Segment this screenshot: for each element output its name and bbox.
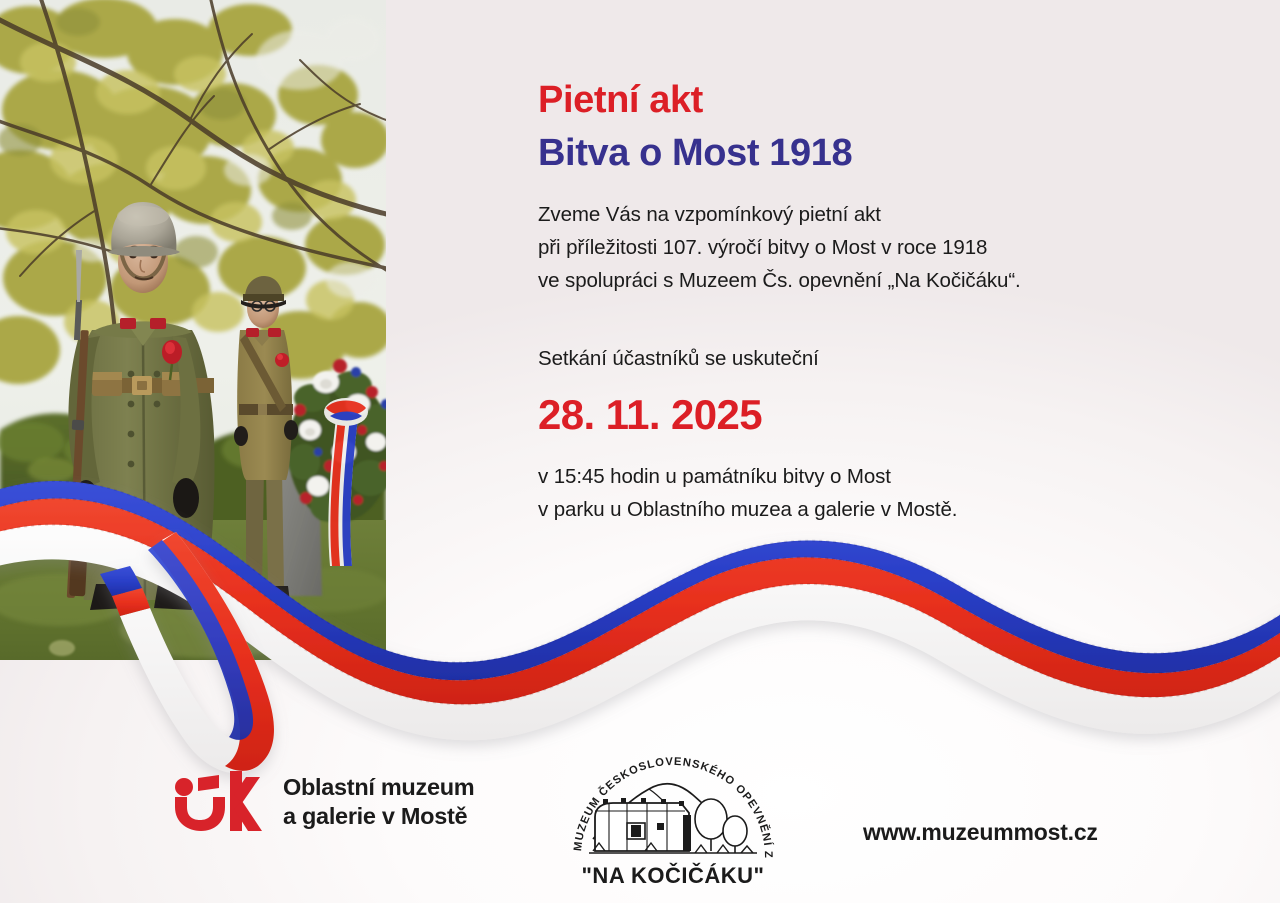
- omgm-logo[interactable]: Oblastní muzeum a galerie v Mostě: [172, 771, 474, 833]
- website-url[interactable]: www.muzeummost.cz: [863, 819, 1098, 846]
- page-title: Bitva o Most 1918: [538, 131, 1198, 176]
- omgm-logo-line-1: Oblastní muzeum: [283, 773, 474, 802]
- meeting-label: Setkání účastníků se uskuteční: [538, 343, 1198, 376]
- omgm-smiley-icon: [172, 771, 264, 833]
- ceremony-photo: [0, 0, 386, 660]
- poster-text-column: Pietní akt Bitva o Most 1918 Zveme Vás n…: [538, 78, 1198, 527]
- location-paragraph: v 15:45 hodin u památníku bitvy o Most v…: [538, 460, 1198, 526]
- poster-root: Pietní akt Bitva o Most 1918 Zveme Vás n…: [0, 0, 1280, 903]
- event-date: 28. 11. 2025: [538, 392, 1198, 438]
- invitation-paragraph: Zveme Vás na vzpomínkový pietní akt při …: [538, 198, 1198, 298]
- omgm-logo-text: Oblastní muzeum a galerie v Mostě: [283, 773, 474, 831]
- invitation-line-1: Zveme Vás na vzpomínkový pietní akt: [538, 198, 1198, 231]
- paragraph-spacer: [538, 297, 1198, 343]
- poster-footer: Oblastní muzeum a galerie v Mostě MUZEUM…: [0, 753, 1280, 903]
- invitation-line-2: při příležitosti 107. výročí bitvy o Mos…: [538, 231, 1198, 264]
- location-line-2: v parku u Oblastního muzea a galerie v M…: [538, 493, 1198, 526]
- invitation-line-3: ve spolupráci s Muzeem Čs. opevnění „Na …: [538, 264, 1198, 297]
- na-kocicaku-logo[interactable]: MUZEUM ČESKOSLOVENSKÉHO OPEVNĚNÍ Z LET 1…: [553, 753, 793, 895]
- omgm-logo-line-2: a galerie v Mostě: [283, 802, 474, 831]
- page-kicker: Pietní akt: [538, 78, 1198, 123]
- kocicak-caption: "NA KOČIČÁKU": [582, 863, 765, 888]
- location-line-1: v 15:45 hodin u památníku bitvy o Most: [538, 460, 1198, 493]
